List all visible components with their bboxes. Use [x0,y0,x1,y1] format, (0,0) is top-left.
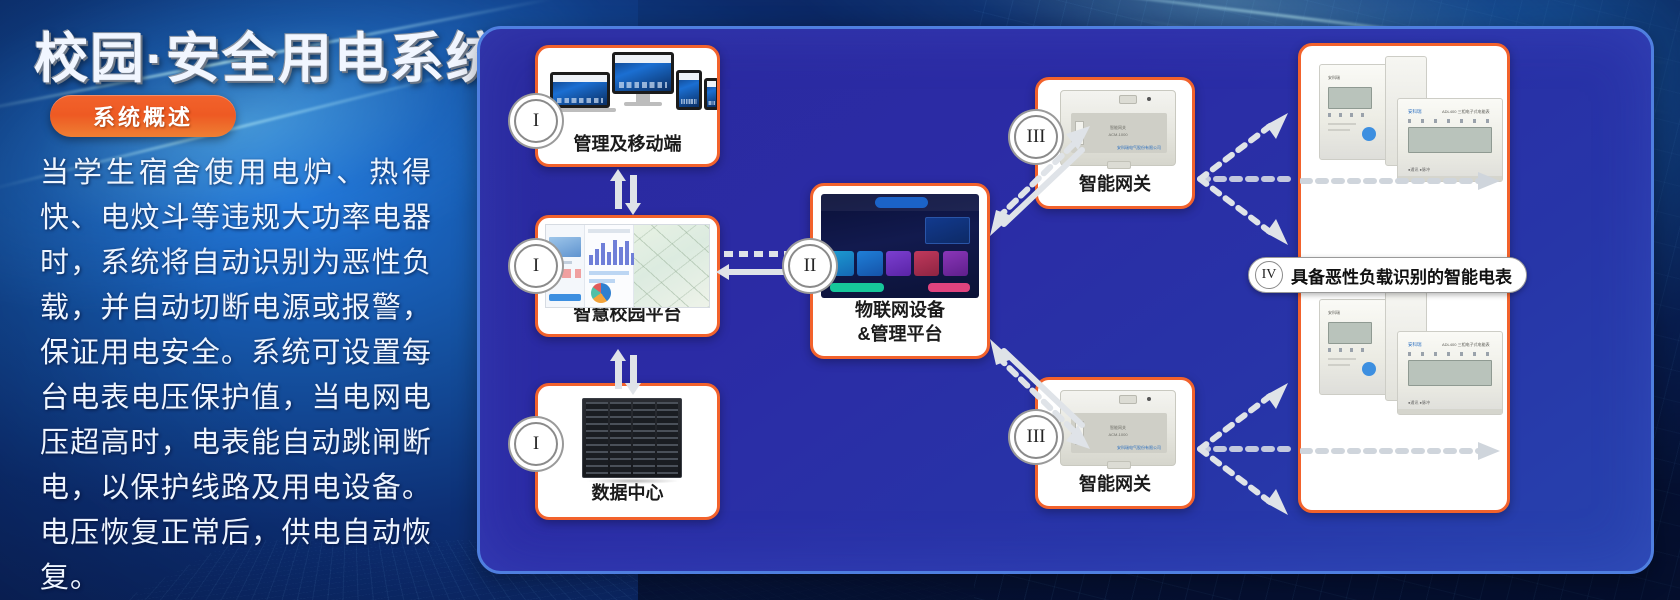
smart-meters-bottom-artwork: 安科瑞 安科瑞 ADL400 三相电子式电能表 ●通讯 ●脉冲 [1301,285,1507,510]
arrow-meter-internal-top [1300,170,1505,192]
campus-dashboard-screenshot [545,224,710,308]
single-phase-meter-print-4 [1328,364,1350,366]
iot-tile-2 [857,251,882,276]
node-iot-platform-label-line2: &管理平台 [813,322,987,356]
node-iot-platform-label-line1: 物联网设备 [813,298,987,322]
numeral-badge-data-center: I [514,422,558,466]
gateway-brand-top: 安科瑞电气股份有限公司 [1117,145,1161,151]
three-phase-meter-brand: 安科瑞 [1408,109,1422,115]
server-rack-shadow [586,478,680,484]
server-rack-icon [582,398,682,478]
arrow-meter-internal-bottom-svg [1300,440,1505,462]
three-phase-meter-brand-2: 安科瑞 [1408,342,1422,348]
node-gateway-bottom-label: 智能网关 [1038,472,1192,506]
single-phase-meter-button-2 [1362,362,1376,376]
dashboard-bar-chart [589,239,635,265]
node-management-mobile[interactable]: 管理及移动端 [535,45,720,167]
desktop-monitor-icon [612,52,674,94]
arrow-gateway-bottom-to-meters-svg [1192,359,1302,539]
gateway-led-top [1147,97,1151,101]
numeral-badge-smart-meters: IV [1255,261,1283,289]
arrow-meter-internal-bottom [1300,440,1505,462]
three-phase-meter-icon-2: 安科瑞 ADL400 三相电子式电能表 ●通讯 ●脉冲 [1397,331,1503,415]
phone-icon [704,78,719,110]
gateway-rail-clip-top [1107,161,1131,169]
single-phase-meter-print2 [1328,129,1350,131]
iot-platform-artwork [813,186,987,298]
meter-description-pill[interactable]: IV 具备恶性负载识别的智能电表 [1248,257,1527,293]
intro-paragraph: 当学生宿舍使用电炉、热得快、电炆斗等违规大功率电器时，系统将自动识别为恶性负载，… [40,150,432,600]
node-data-center[interactable]: 数据中心 [535,383,720,520]
smart-campus-artwork [538,218,717,302]
three-phase-meter-lcd [1408,127,1492,153]
smart-meters-top-artwork: 安科瑞 安科瑞 ADL400 三相电子式电能表 ●通讯 ●脉冲 [1301,46,1507,271]
single-phase-meter-lcd-2 [1328,322,1372,344]
three-phase-meter-footer-2: ●通讯 ●脉冲 [1408,400,1430,406]
three-phase-meter-lcd-2 [1408,360,1492,386]
single-phase-meter-led-row [1328,113,1372,117]
numeral-badge-iot-platform: II [788,244,832,288]
node-data-center-label: 数据中心 [538,481,717,517]
numeral-badge-smart-campus: I [514,244,558,288]
single-phase-meter-print-3 [1328,358,1356,360]
iot-tile-5 [943,251,968,276]
arrow-gateway-top-to-meters [1192,89,1302,269]
page-title: 校园·安全用电系统 [34,14,502,93]
arrow-gateway-top-to-meters-svg [1192,89,1302,269]
three-phase-meter-leds-2 [1408,352,1492,356]
monitor-base [624,102,662,106]
tablet-icon [676,70,702,110]
three-phase-meter-rail-2 [1398,409,1502,414]
dashboard-campus-map [634,225,709,307]
node-iot-platform[interactable]: 物联网设备 &管理平台 [810,183,990,359]
section-badge: 系统概述 [50,95,236,137]
gateway-usb-port-bottom [1119,395,1137,404]
data-center-artwork [538,386,717,481]
iot-dashboard-screenshot [821,194,979,298]
arrow-campus-to-datacenter [610,349,644,395]
laptop-icon [550,72,610,108]
meter-description-label: 具备恶性负载识别的智能电表 [1291,263,1512,288]
single-phase-meter-print [1328,123,1356,125]
gateway-brand-bottom: 安科瑞电气股份有限公司 [1117,445,1161,451]
arrow-gateway-bottom-to-meters [1192,359,1302,539]
iot-tile-4 [914,251,939,276]
numeral-badge-gateway-top: III [1014,115,1058,159]
iot-tile-1 [829,251,854,276]
numeral-badge-management-mobile: I [514,99,558,143]
numeral-badge-gateway-bottom: III [1014,415,1058,459]
gateway-led-bottom [1147,397,1151,401]
gateway-usb-port-top [1119,95,1137,104]
single-phase-meter-brand: 安科瑞 [1328,75,1340,81]
dashboard-chart-pane [585,225,634,307]
monitor-stand [636,94,650,102]
single-phase-meter-lcd [1328,87,1372,109]
arrow-management-to-campus [610,169,644,215]
single-phase-meter-icon-2: 安科瑞 [1319,299,1393,395]
arrow-meter-internal-top-svg [1300,170,1505,192]
three-phase-meter-leds [1408,119,1492,123]
single-phase-meter-brand-2: 安科瑞 [1328,310,1340,316]
management-mobile-artwork [538,48,717,132]
single-phase-meter-icon: 安科瑞 [1319,64,1393,160]
architecture-diagram-panel: 管理及移动端 I [477,26,1654,574]
single-phase-meter-led-row-2 [1328,348,1372,352]
node-smart-campus[interactable]: 智慧校园平台 [535,215,720,337]
single-phase-meter-button [1362,127,1376,141]
gateway-rail-clip-bottom [1107,461,1131,469]
intro-column: 校园·安全用电系统 系统概述 当学生宿舍使用电炉、热得快、电炆斗等违规大功率电器… [0,0,470,600]
three-phase-meter-model-2: ADL400 三相电子式电能表 [1442,342,1490,348]
iot-tile-3 [886,251,911,276]
node-management-mobile-label: 管理及移动端 [538,132,717,164]
three-phase-meter-model: ADL400 三相电子式电能表 [1442,109,1490,115]
